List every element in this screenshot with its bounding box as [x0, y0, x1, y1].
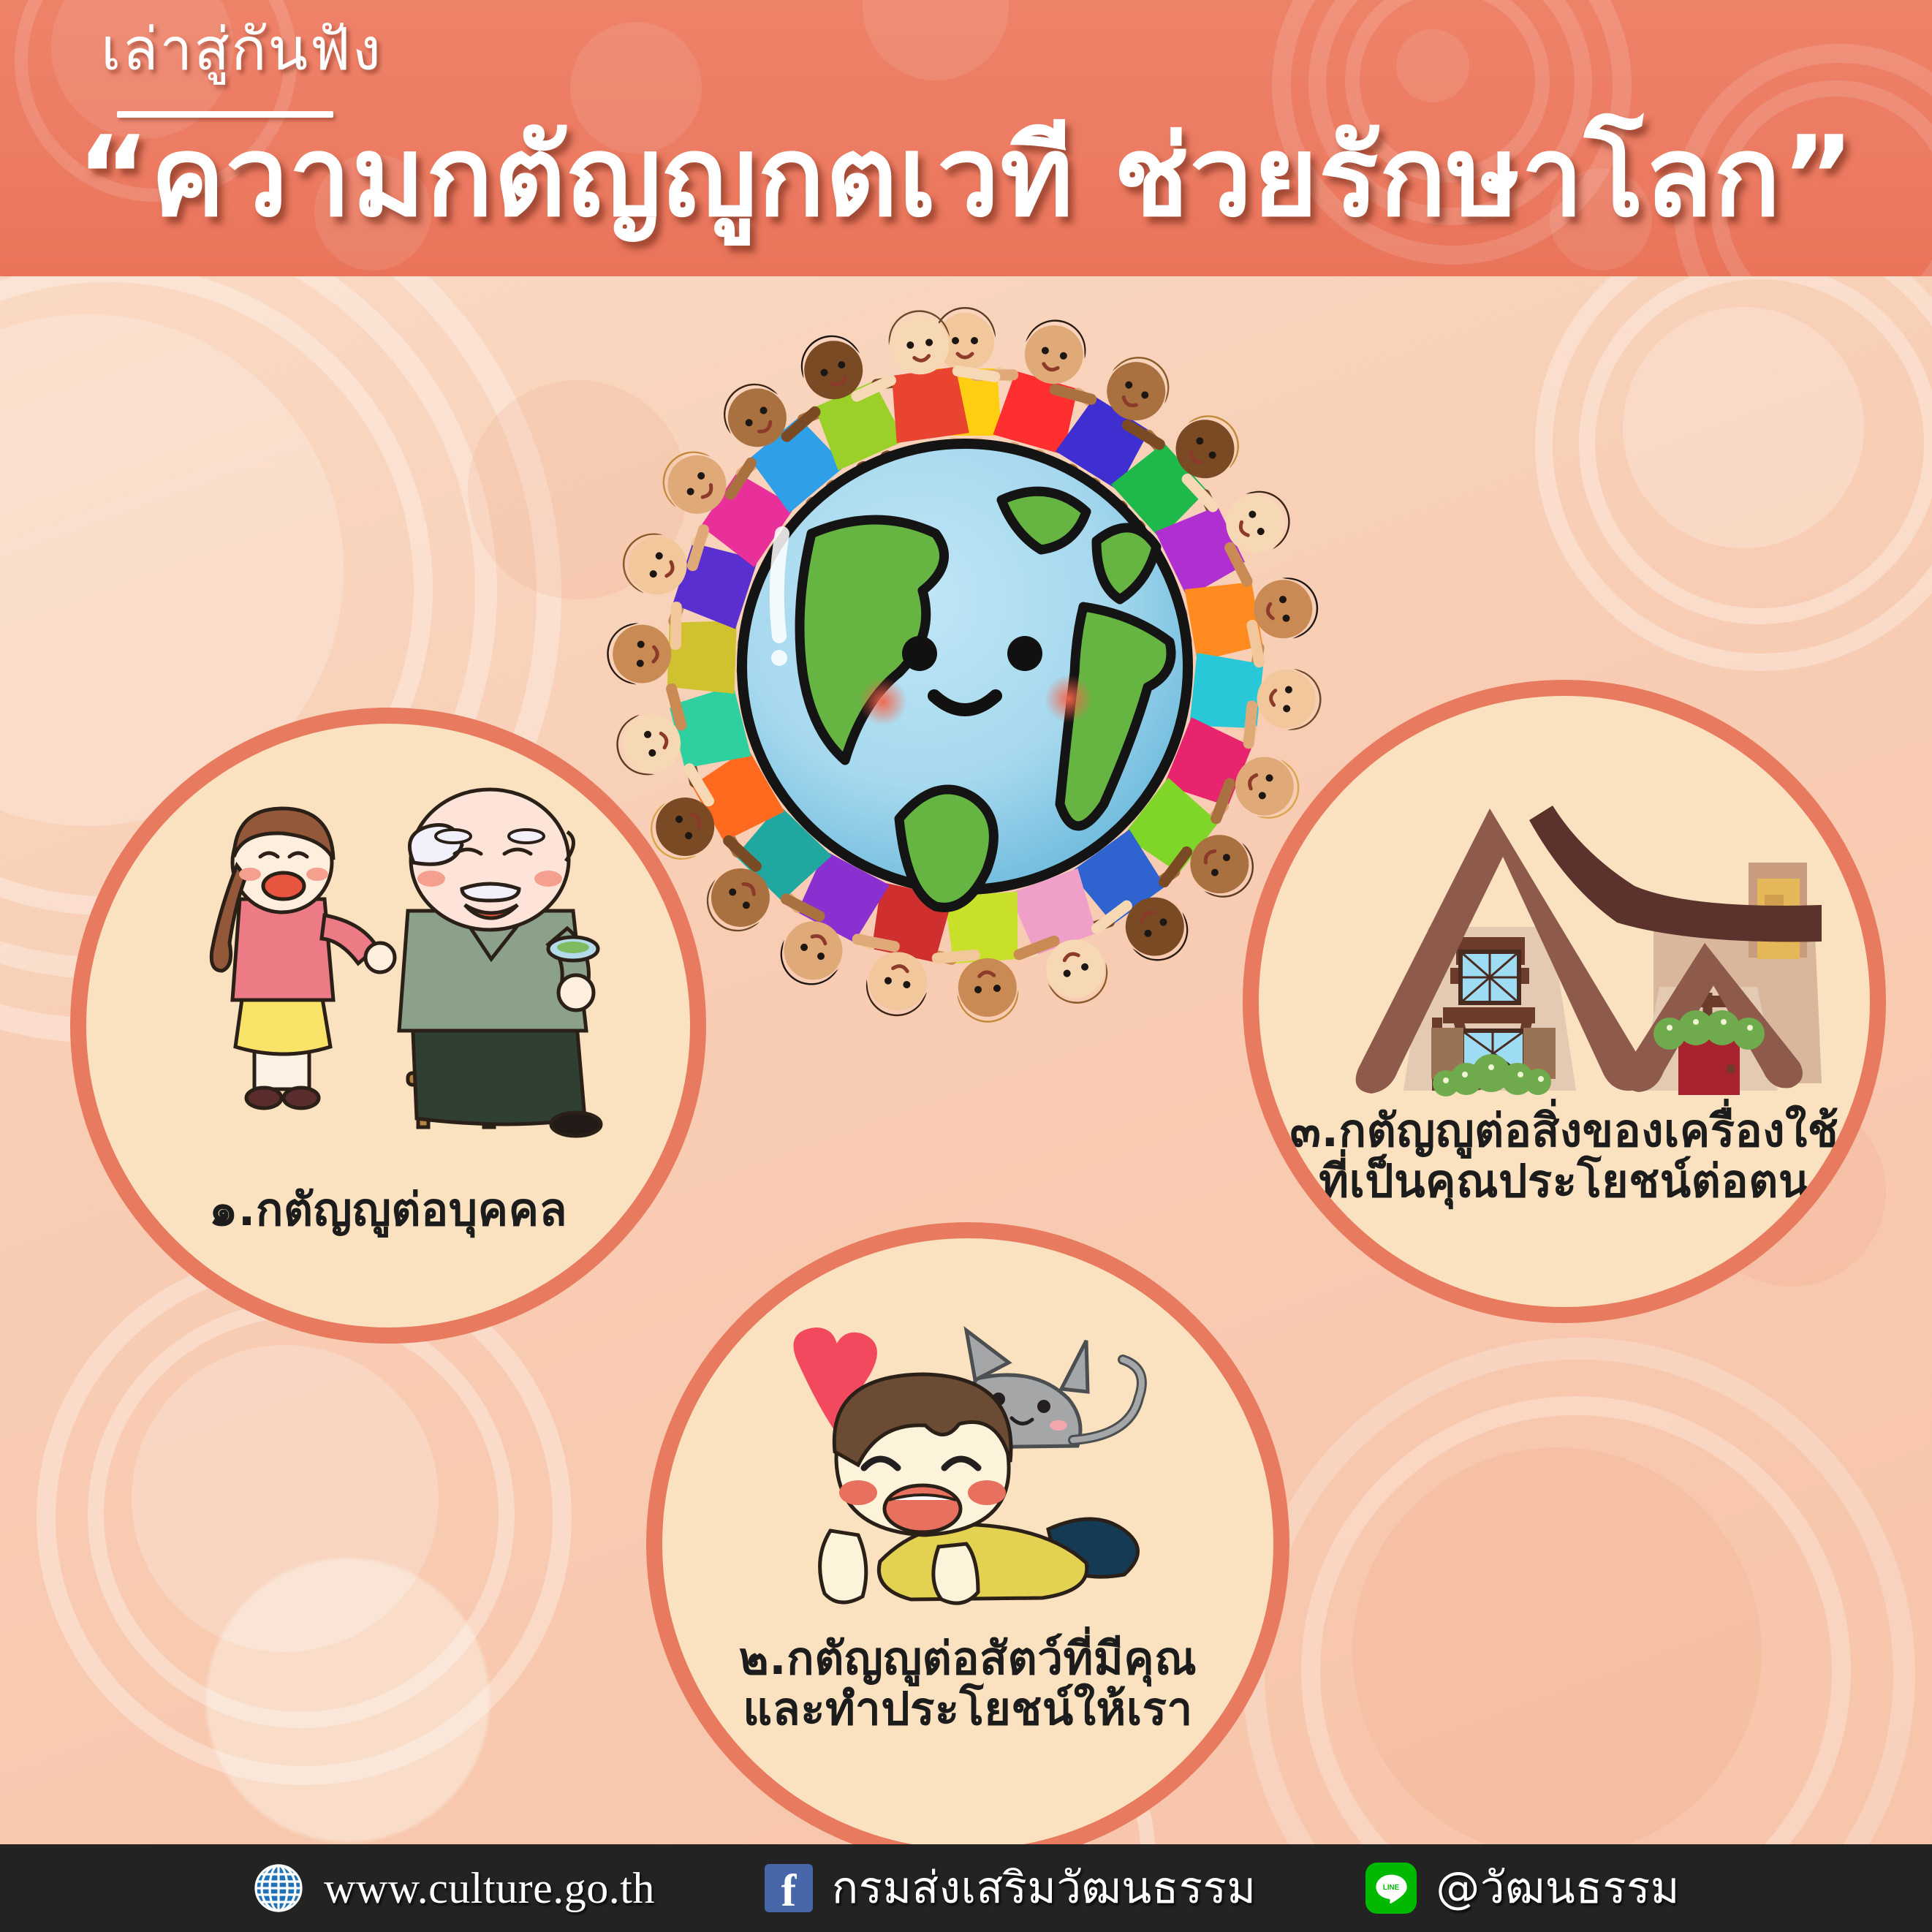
- header-kicker: เล่าสู่กันฟัง: [101, 20, 382, 79]
- footer-website[interactable]: www.culture.go.th: [252, 1862, 655, 1914]
- globe-icon: [252, 1862, 305, 1914]
- footer-line-label: @วัฒนธรรม: [1436, 1866, 1680, 1910]
- children-around-earth-illustration: [592, 292, 1338, 1038]
- cottage-house-illustration: [1310, 776, 1822, 1120]
- topic-card-3[interactable]: ๓.กตัญญูต่อสิ่งของเครื่องใช้ ที่เป็นคุณป…: [1243, 680, 1886, 1323]
- line-icon: LINE: [1365, 1863, 1417, 1914]
- header-banner: เล่าสู่กันฟัง “ความกตัญญูกตเวที ช่วยรักษ…: [0, 0, 1932, 276]
- footer-facebook[interactable]: f กรมส่งเสริมวัฒนธรรม: [765, 1864, 1256, 1912]
- boy-with-cat-illustration: [743, 1289, 1211, 1633]
- footer-website-label: www.culture.go.th: [324, 1866, 655, 1910]
- topic-card-2[interactable]: ๒.กตัญญูต่อสัตว์ที่มีคุณ และทำประโยชน์ให…: [646, 1222, 1289, 1865]
- girl-massaging-grandfather-illustration: [167, 775, 634, 1155]
- footer-facebook-label: กรมส่งเสริมวัฒนธรรม: [832, 1866, 1256, 1910]
- topic-2-caption: ๒.กตัญญูต่อสัตว์ที่มีคุณ และทำประโยชน์ให…: [662, 1633, 1273, 1735]
- page-title: “ความกตัญญูกตเวที ช่วยรักษาโลก”: [0, 117, 1932, 237]
- svg-text:LINE: LINE: [1383, 1884, 1400, 1892]
- topic-3-caption: ๓.กตัญญูต่อสิ่งของเครื่องใช้ ที่เป็นคุณป…: [1259, 1105, 1870, 1207]
- facebook-icon: f: [765, 1864, 813, 1912]
- footer-bar: www.culture.go.th f กรมส่งเสริมวัฒนธรรม …: [0, 1844, 1932, 1932]
- topic-card-1[interactable]: ๑.กตัญญูต่อบุคคล: [70, 708, 706, 1344]
- topic-1-caption: ๑.กตัญญูต่อบุคคล: [86, 1184, 690, 1235]
- infographic-poster: เล่าสู่กันฟัง “ความกตัญญูกตเวที ช่วยรักษ…: [0, 0, 1932, 1932]
- footer-line[interactable]: LINE @วัฒนธรรม: [1365, 1863, 1680, 1914]
